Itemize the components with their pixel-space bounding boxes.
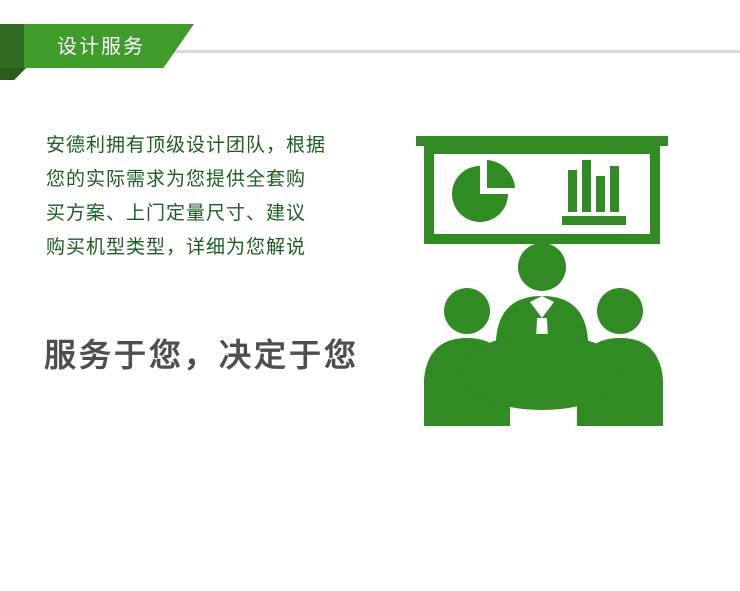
ribbon-tail-shape — [0, 68, 26, 80]
bar-chart-icon — [562, 160, 626, 225]
description-line-2: 您的实际需求为您提供全套购 — [46, 162, 376, 196]
slogan-part-1: 服务于您 — [44, 336, 184, 374]
page-header: 设计服务 — [0, 12, 740, 68]
meeting-presentation-illustration — [392, 136, 692, 436]
pie-chart-icon — [452, 160, 515, 222]
description-line-3: 买方案、上门定量尺寸、建议 — [46, 196, 376, 230]
round-table — [460, 334, 624, 410]
section-title: 设计服务 — [57, 33, 145, 59]
description-paragraph: 安德利拥有顶级设计团队，根据 您的实际需求为您提供全套购 买方案、上门定量尺寸、… — [46, 128, 376, 264]
description-line-1: 安德利拥有顶级设计团队，根据 — [46, 128, 376, 162]
slogan-comma: ， — [184, 336, 219, 374]
slogan: 服务于您，决定于您 — [44, 330, 359, 376]
slogan-part-2: 决定于您 — [219, 336, 359, 374]
description-line-4: 购买机型类型，详细为您解说 — [46, 230, 376, 264]
